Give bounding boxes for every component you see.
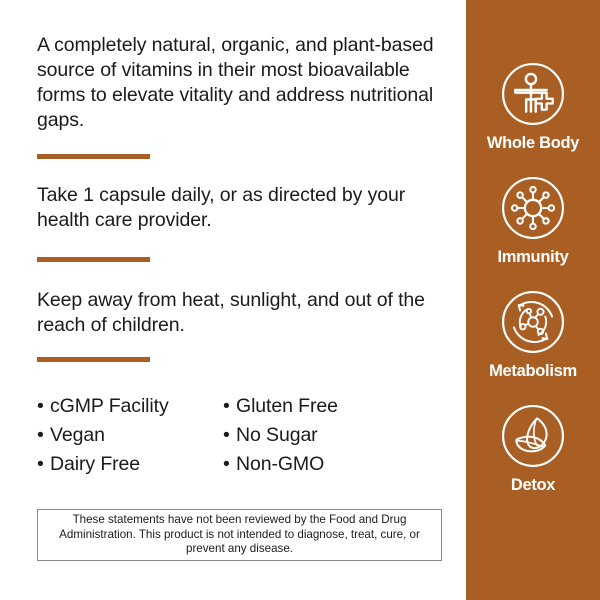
list-item-label: Non-GMO [236, 453, 324, 475]
bullet-icon: • [223, 450, 236, 479]
list-item: •Vegan [37, 421, 223, 450]
benefit-label: Immunity [498, 248, 569, 267]
list-item-label: Gluten Free [236, 395, 338, 417]
list-item: •Dairy Free [37, 450, 223, 479]
bullet-icon: • [223, 421, 236, 450]
benefits-panel: Whole Body Immunity [466, 0, 600, 600]
section-divider-1 [37, 154, 150, 159]
benefit-item-detox: Detox [466, 402, 600, 495]
bullet-icon: • [37, 392, 50, 421]
list-item-label: Vegan [50, 424, 105, 446]
feature-list-column-left: •cGMP Facility •Vegan •Dairy Free [37, 392, 223, 479]
list-item-label: Dairy Free [50, 453, 140, 475]
section-divider-2 [37, 257, 150, 262]
molecule-cycle-icon [499, 288, 567, 356]
storage-warning-text: Keep away from heat, sunlight, and out o… [37, 288, 447, 338]
bullet-icon: • [37, 421, 50, 450]
list-item: •Gluten Free [223, 392, 423, 421]
product-label-panel: A completely natural, organic, and plant… [0, 0, 600, 600]
bullet-icon: • [223, 392, 236, 421]
list-item-label: No Sugar [236, 424, 318, 446]
info-column: A completely natural, organic, and plant… [0, 0, 466, 600]
list-item: •cGMP Facility [37, 392, 223, 421]
fda-disclaimer-text: These statements have not been reviewed … [38, 513, 441, 557]
directions-text: Take 1 capsule daily, or as directed by … [37, 183, 447, 233]
virus-cell-icon [499, 174, 567, 242]
benefit-item-metabolism: Metabolism [466, 288, 600, 381]
feature-list: •cGMP Facility •Vegan •Dairy Free •Glute… [37, 392, 437, 479]
leaves-icon [499, 402, 567, 470]
list-item-label: cGMP Facility [50, 395, 169, 417]
product-description: A completely natural, organic, and plant… [37, 33, 447, 133]
section-divider-3 [37, 357, 150, 362]
benefit-item-immunity: Immunity [466, 174, 600, 267]
human-figure-plus-icon [499, 60, 567, 128]
feature-list-column-right: •Gluten Free •No Sugar •Non-GMO [223, 392, 423, 479]
benefit-label: Detox [511, 476, 555, 495]
benefit-label: Metabolism [489, 362, 577, 381]
list-item: •Non-GMO [223, 450, 423, 479]
benefit-label: Whole Body [487, 134, 579, 153]
benefit-item-whole-body: Whole Body [466, 60, 600, 153]
list-item: •No Sugar [223, 421, 423, 450]
bullet-icon: • [37, 450, 50, 479]
fda-disclaimer-box: These statements have not been reviewed … [37, 509, 442, 561]
